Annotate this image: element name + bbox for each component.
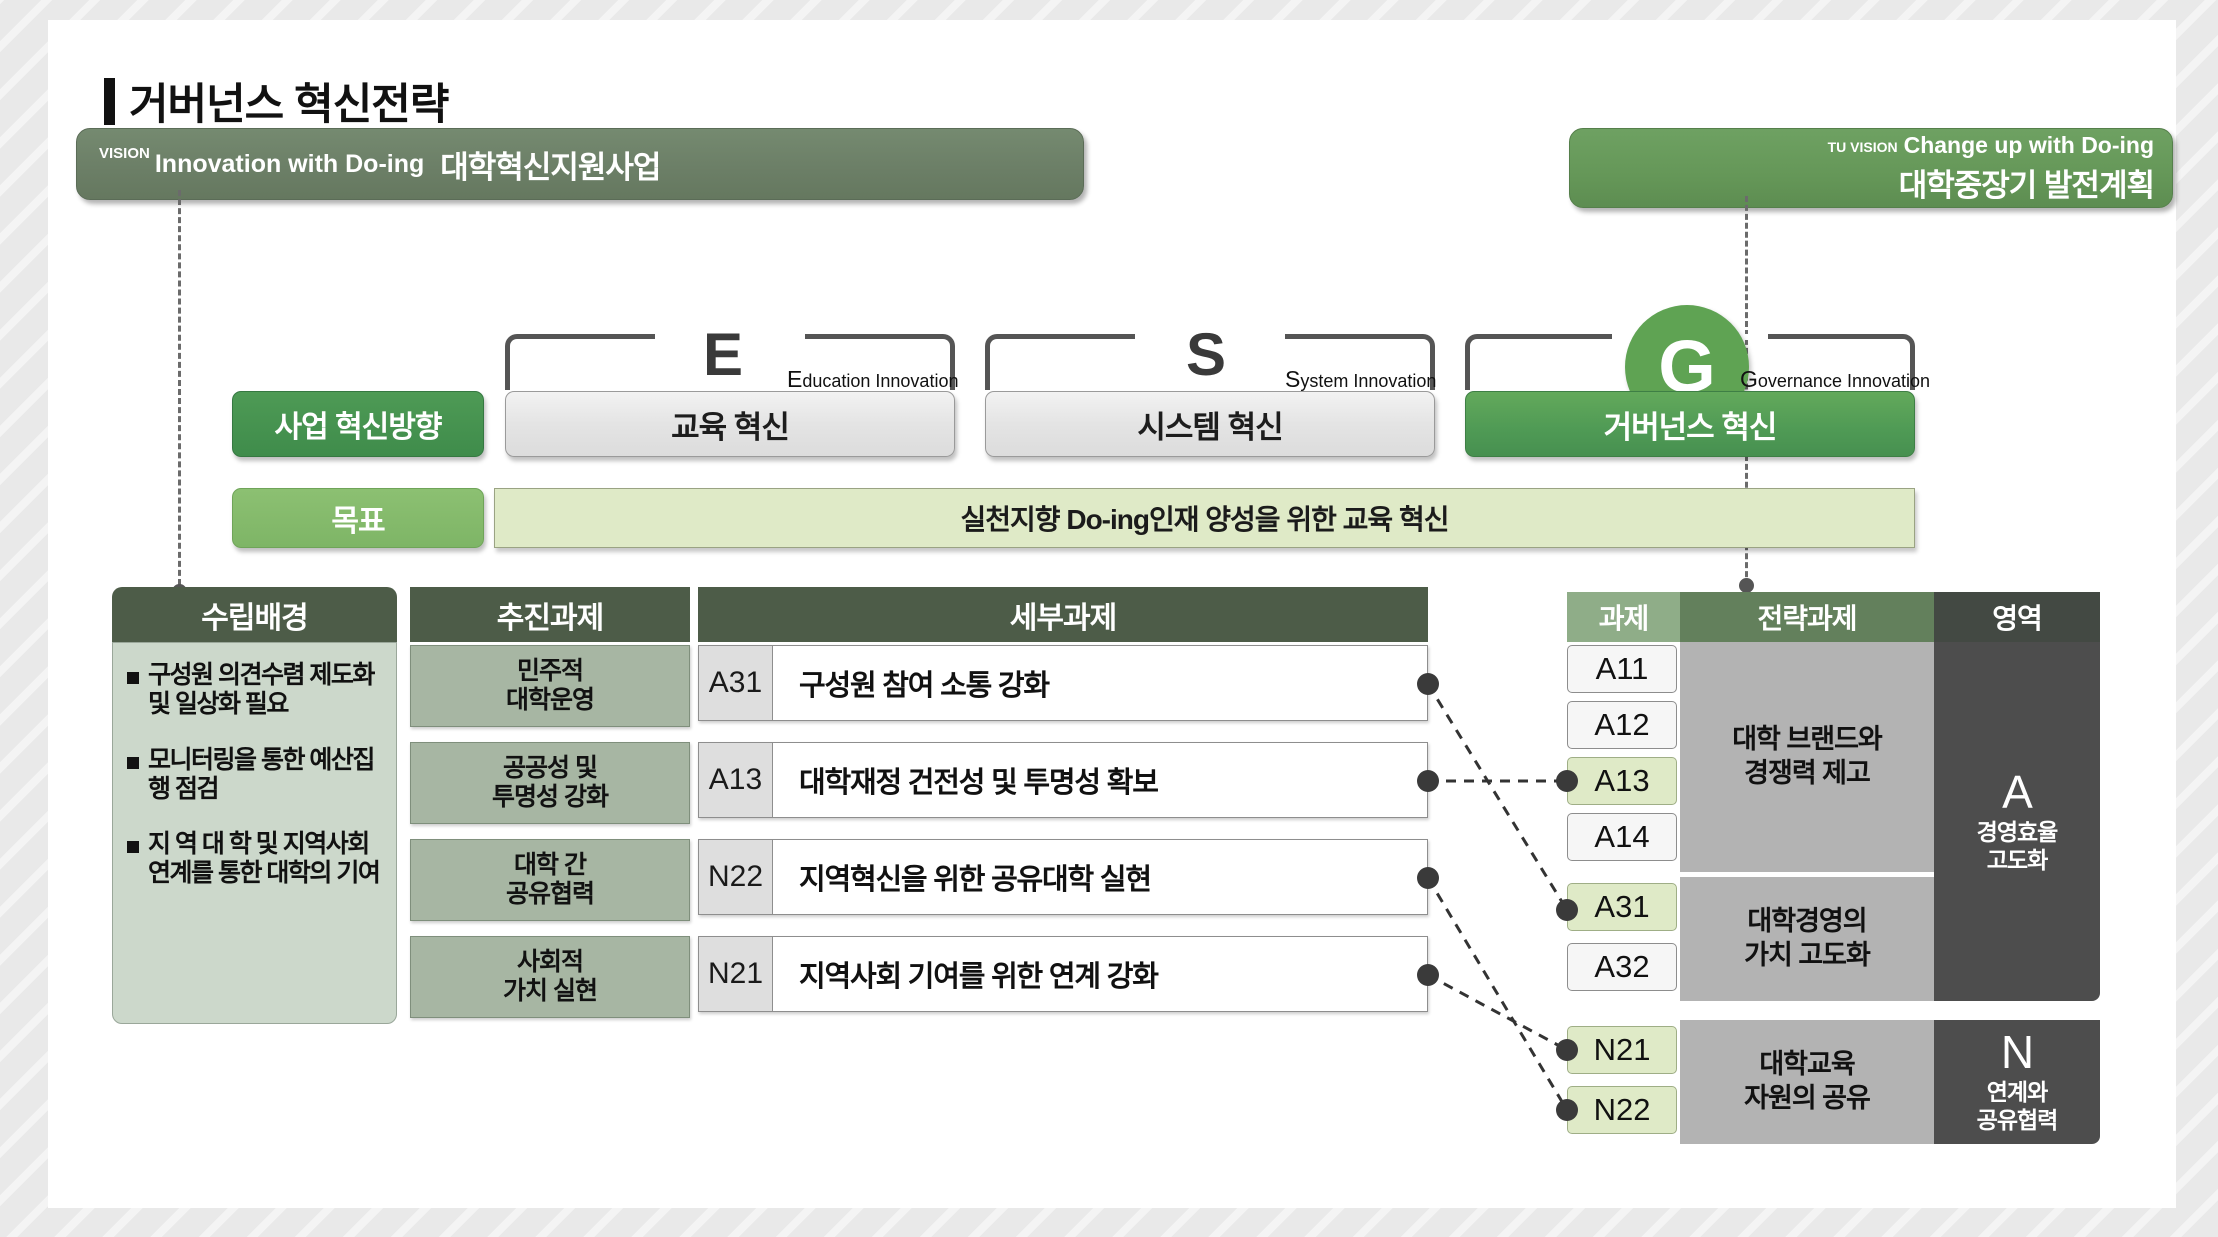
- subtask-code: N21: [699, 937, 773, 1011]
- panel-header-background-text: 수립배경: [201, 593, 307, 637]
- esg-box-system[interactable]: 시스템 혁신: [985, 391, 1435, 457]
- table-row[interactable]: N22 지역혁신을 위한 공유대학 실현: [698, 839, 1428, 915]
- matrix-code-a14[interactable]: A14: [1567, 813, 1677, 861]
- panel-header-subtasks: 세부과제: [698, 587, 1428, 642]
- subtask-code: N22: [699, 840, 773, 914]
- esg-box-system-label: 시스템 혁신: [1137, 402, 1282, 447]
- esg-letter-s: S: [1186, 320, 1226, 389]
- matrix-header-code-text: 과제: [1599, 597, 1649, 637]
- matrix-header-strategy: 전략과제: [1680, 592, 1934, 642]
- subtask-text: 대학재정 건전성 및 투명성 확보: [773, 743, 1427, 817]
- matrix-header-area-text: 영역: [1992, 597, 2042, 637]
- matrix-code-a11[interactable]: A11: [1567, 645, 1677, 693]
- vision-korean-left: 대학혁신지원사업: [440, 142, 660, 187]
- task-cell-1-line2: 대학운영: [506, 686, 594, 716]
- title-text: 거버넌스 혁신전략: [129, 70, 448, 132]
- matrix-header-code: 과제: [1567, 592, 1680, 642]
- task-cell-4-line1: 사회적: [517, 948, 583, 978]
- task-cell-2[interactable]: 공공성 및 투명성 강화: [410, 742, 690, 824]
- task-cell-1-line1: 민주적: [517, 657, 583, 687]
- matrix-code-n21-text: N21: [1594, 1032, 1651, 1068]
- list-item: 모니터링을 통한 예산집행 점검: [127, 746, 380, 805]
- bullet-square-icon: [127, 757, 139, 769]
- vision-korean-right: 대학중장기 발전계획: [1899, 160, 2154, 205]
- matrix-strategy-group-1-line1: 대학 브랜드와: [1732, 723, 1882, 757]
- panel-header-background: 수립배경: [112, 587, 397, 642]
- label-innovation-direction: 사업 혁신방향: [232, 391, 484, 457]
- subtask-text: 지역혁신을 위한 공유대학 실현: [773, 840, 1427, 914]
- list-item-text: 지 역 대 학 및 지역사회 연계를 통한 대학의 기여: [148, 830, 380, 889]
- task-cell-1[interactable]: 민주적 대학운영: [410, 645, 690, 727]
- task-cell-4[interactable]: 사회적 가치 실현: [410, 936, 690, 1018]
- matrix-strategy-group-1: 대학 브랜드와 경쟁력 제고: [1680, 642, 1934, 872]
- esg-subtitle-g: Governance Innovation: [1740, 366, 1930, 393]
- list-item: 구성원 의견수렴 제도화 및 일상화 필요: [127, 661, 380, 720]
- matrix-area-n-line2: 공유협력: [1977, 1107, 2058, 1135]
- matrix-area-a: A 경영효율 고도화: [1934, 642, 2100, 1001]
- matrix-strategy-group-3-line1: 대학교육: [1759, 1048, 1854, 1082]
- matrix-code-a12-text: A12: [1594, 707, 1649, 743]
- task-cell-2-line2: 투명성 강화: [492, 783, 608, 813]
- matrix-strategy-group-2: 대학경영의 가치 고도화: [1680, 877, 1934, 1001]
- guide-dot-right: [1739, 578, 1754, 593]
- label-innovation-direction-text: 사업 혁신방향: [275, 402, 442, 446]
- label-goal: 목표: [232, 488, 484, 548]
- matrix-strategy-group-2-line2: 가치 고도화: [1744, 939, 1870, 973]
- esg-box-governance[interactable]: 거버넌스 혁신: [1465, 391, 1915, 457]
- vision-tag-left: VISION: [99, 145, 150, 162]
- matrix-code-n22[interactable]: N22: [1567, 1086, 1677, 1134]
- matrix-code-a13[interactable]: A13: [1567, 757, 1677, 805]
- panel-header-tasks: 추진과제: [410, 587, 690, 642]
- esg-box-education-label: 교육 혁신: [671, 402, 789, 447]
- subtask-code: A31: [699, 646, 773, 720]
- vision-english-left: Innovation with Do-ing: [155, 150, 424, 179]
- esg-box-governance-label: 거버넌스 혁신: [1604, 402, 1777, 447]
- esg-subtitle-e: Education Innovation: [787, 366, 958, 393]
- goal-statement-box: 실천지향 Do-ing인재 양성을 위한 교육 혁신: [494, 488, 1915, 548]
- matrix-code-a32[interactable]: A32: [1567, 943, 1677, 991]
- task-cell-4-line2: 가치 실현: [503, 977, 597, 1007]
- matrix-code-a31-text: A31: [1594, 889, 1649, 925]
- matrix-code-a32-text: A32: [1594, 949, 1649, 985]
- matrix-area-n: N 연계와 공유협력: [1934, 1020, 2100, 1144]
- matrix-strategy-group-3: 대학교육 자원의 공유: [1680, 1020, 1934, 1144]
- page-title: 거버넌스 혁신전략: [104, 70, 448, 132]
- matrix-code-n22-text: N22: [1594, 1092, 1651, 1128]
- task-cell-2-line1: 공공성 및: [503, 754, 597, 784]
- vision-tag-right: TU VISION: [1828, 139, 1898, 155]
- table-row[interactable]: A31 구성원 참여 소통 강화: [698, 645, 1428, 721]
- table-row[interactable]: A13 대학재정 건전성 및 투명성 확보: [698, 742, 1428, 818]
- list-item: 지 역 대 학 및 지역사회 연계를 통한 대학의 기여: [127, 830, 380, 889]
- vision-english-right: Change up with Do-ing: [1904, 132, 2154, 159]
- matrix-code-a14-text: A14: [1594, 819, 1649, 855]
- goal-statement-text: 실천지향 Do-ing인재 양성을 위한 교육 혁신: [961, 498, 1449, 538]
- panel-header-subtasks-text: 세부과제: [1010, 593, 1116, 637]
- task-cell-3-line2: 공유협력: [506, 880, 594, 910]
- esg-subtitle-s: System Innovation: [1285, 366, 1436, 393]
- subtask-text: 구성원 참여 소통 강화: [773, 646, 1427, 720]
- vision-banner-left: VISION Innovation with Do-ing 대학혁신지원사업: [76, 128, 1084, 200]
- task-cell-3-line1: 대학 간: [514, 851, 586, 881]
- vision-banner-right-row: TU VISION Change up with Do-ing: [1828, 132, 2154, 159]
- matrix-strategy-group-3-line2: 자원의 공유: [1744, 1082, 1870, 1116]
- vision-banner-right: TU VISION Change up with Do-ing 대학중장기 발전…: [1569, 128, 2173, 208]
- esg-letter-e: E: [703, 320, 743, 389]
- matrix-area-n-letter: N: [2001, 1029, 2033, 1075]
- matrix-code-a13-text: A13: [1594, 763, 1649, 799]
- table-row[interactable]: N21 지역사회 기여를 위한 연계 강화: [698, 936, 1428, 1012]
- esg-box-education[interactable]: 교육 혁신: [505, 391, 955, 457]
- bullet-square-icon: [127, 672, 139, 684]
- matrix-strategy-group-1-line2: 경쟁력 제고: [1744, 757, 1870, 791]
- list-item-text: 모니터링을 통한 예산집행 점검: [148, 746, 380, 805]
- background-panel-body: 구성원 의견수렴 제도화 및 일상화 필요 모니터링을 통한 예산집행 점검 지…: [112, 642, 397, 1024]
- subtask-text: 지역사회 기여를 위한 연계 강화: [773, 937, 1427, 1011]
- matrix-code-n21[interactable]: N21: [1567, 1026, 1677, 1074]
- title-accent-bar: [104, 78, 115, 125]
- matrix-area-a-letter: A: [2002, 769, 2032, 815]
- matrix-strategy-group-2-line1: 대학경영의: [1747, 905, 1866, 939]
- matrix-header-strategy-text: 전략과제: [1757, 597, 1856, 637]
- list-item-text: 구성원 의견수렴 제도화 및 일상화 필요: [148, 661, 380, 720]
- subtask-code: A13: [699, 743, 773, 817]
- task-cell-3[interactable]: 대학 간 공유협력: [410, 839, 690, 921]
- matrix-area-a-line1: 경영효율: [1977, 819, 2058, 847]
- matrix-area-a-line2: 고도화: [1987, 847, 2047, 875]
- label-goal-text: 목표: [331, 496, 384, 540]
- matrix-area-n-line1: 연계와: [1987, 1079, 2047, 1107]
- matrix-code-a11-text: A11: [1596, 651, 1649, 687]
- matrix-code-a12[interactable]: A12: [1567, 701, 1677, 749]
- panel-header-tasks-text: 추진과제: [497, 593, 603, 637]
- guide-line-left: [178, 190, 181, 594]
- matrix-header-area: 영역: [1934, 592, 2100, 642]
- matrix-code-a31[interactable]: A31: [1567, 883, 1677, 931]
- bullet-square-icon: [127, 841, 139, 853]
